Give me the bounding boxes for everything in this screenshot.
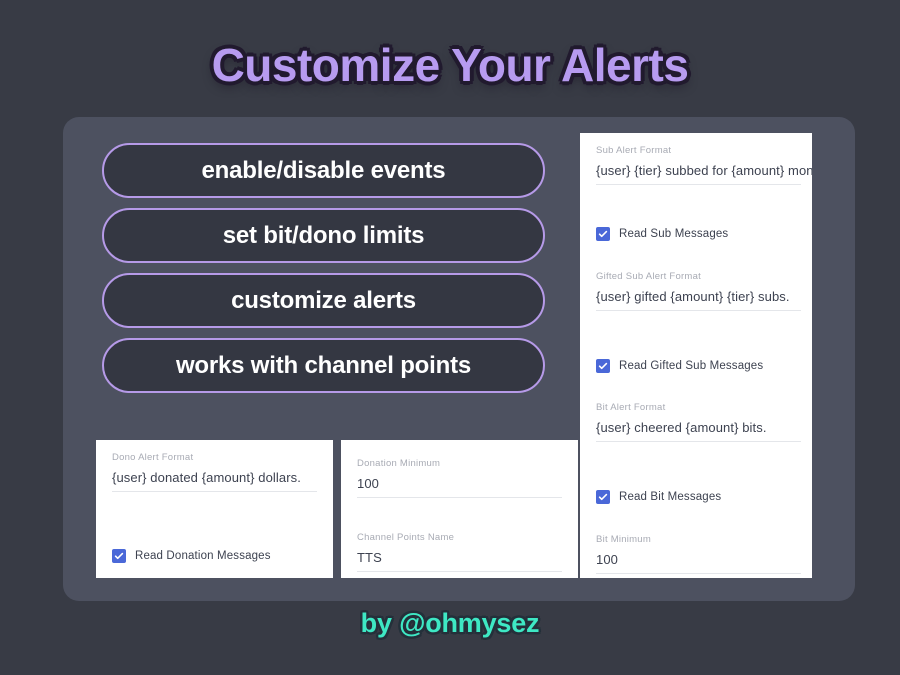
feature-pill-label: works with channel points bbox=[176, 352, 471, 380]
field-value[interactable]: {user} cheered {amount} bits. bbox=[596, 420, 801, 435]
field-underline bbox=[112, 491, 317, 492]
checkbox-label: Read Donation Messages bbox=[135, 550, 271, 562]
field-label: Sub Alert Format bbox=[596, 145, 801, 156]
feature-pill-label: set bit/dono limits bbox=[223, 222, 425, 250]
checkbox-read-sub-messages[interactable]: Read Sub Messages bbox=[596, 227, 728, 241]
feature-pill-customize-alerts[interactable]: customize alerts bbox=[102, 273, 545, 328]
feature-pill-bit-dono-limits[interactable]: set bit/dono limits bbox=[102, 208, 545, 263]
field-value[interactable]: {user} gifted {amount} {tier} subs. bbox=[596, 289, 801, 304]
field-underline bbox=[596, 573, 801, 574]
field-underline bbox=[357, 497, 562, 498]
field-bit-alert-format: Bit Alert Format {user} cheered {amount}… bbox=[596, 402, 801, 442]
field-value[interactable]: 100 bbox=[596, 552, 801, 567]
field-underline bbox=[596, 310, 801, 311]
field-dono-alert-format: Dono Alert Format {user} donated {amount… bbox=[112, 452, 317, 492]
field-label: Bit Minimum bbox=[596, 534, 801, 545]
checkmark-icon[interactable] bbox=[596, 490, 610, 504]
field-value[interactable]: 100 bbox=[357, 476, 562, 491]
checkbox-read-donation-messages[interactable]: Read Donation Messages bbox=[112, 549, 271, 563]
donation-limits-panel: Donation Minimum 100 Channel Points Name… bbox=[341, 440, 578, 578]
author-credit: by @ohmysez bbox=[0, 608, 900, 639]
field-donation-minimum: Donation Minimum 100 bbox=[357, 458, 562, 498]
checkbox-read-bit-messages[interactable]: Read Bit Messages bbox=[596, 490, 721, 504]
feature-pill-enable-disable-events[interactable]: enable/disable events bbox=[102, 143, 545, 198]
feature-pill-label: enable/disable events bbox=[202, 157, 446, 185]
sub-settings-panel: Sub Alert Format {user} {tier} subbed fo… bbox=[580, 133, 812, 578]
field-label: Donation Minimum bbox=[357, 458, 562, 469]
field-value[interactable]: {user} donated {amount} dollars. bbox=[112, 470, 317, 485]
field-bit-minimum: Bit Minimum 100 bbox=[596, 534, 801, 574]
field-value[interactable]: TTS bbox=[357, 550, 562, 565]
field-label: Channel Points Name bbox=[357, 532, 562, 543]
checkbox-read-gifted-sub-messages[interactable]: Read Gifted Sub Messages bbox=[596, 359, 763, 373]
checkbox-label: Read Sub Messages bbox=[619, 228, 728, 240]
checkmark-icon[interactable] bbox=[596, 359, 610, 373]
field-label: Bit Alert Format bbox=[596, 402, 801, 413]
field-channel-points-name: Channel Points Name TTS bbox=[357, 532, 562, 572]
field-underline bbox=[596, 184, 801, 185]
feature-pill-label: customize alerts bbox=[231, 287, 416, 315]
field-underline bbox=[357, 571, 562, 572]
dono-settings-panel: Dono Alert Format {user} donated {amount… bbox=[96, 440, 333, 578]
checkbox-label: Read Gifted Sub Messages bbox=[619, 360, 763, 372]
feature-pill-channel-points[interactable]: works with channel points bbox=[102, 338, 545, 393]
checkbox-label: Read Bit Messages bbox=[619, 491, 721, 503]
field-label: Gifted Sub Alert Format bbox=[596, 271, 801, 282]
field-sub-alert-format: Sub Alert Format {user} {tier} subbed fo… bbox=[596, 145, 801, 185]
field-value[interactable]: {user} {tier} subbed for {amount} month bbox=[596, 163, 812, 178]
page-title: Customize Your Alerts bbox=[0, 38, 900, 92]
field-gifted-sub-alert-format: Gifted Sub Alert Format {user} gifted {a… bbox=[596, 271, 801, 311]
feature-pill-list: enable/disable events set bit/dono limit… bbox=[102, 143, 545, 403]
field-underline bbox=[596, 441, 801, 442]
checkmark-icon[interactable] bbox=[596, 227, 610, 241]
field-label: Dono Alert Format bbox=[112, 452, 317, 463]
checkmark-icon[interactable] bbox=[112, 549, 126, 563]
